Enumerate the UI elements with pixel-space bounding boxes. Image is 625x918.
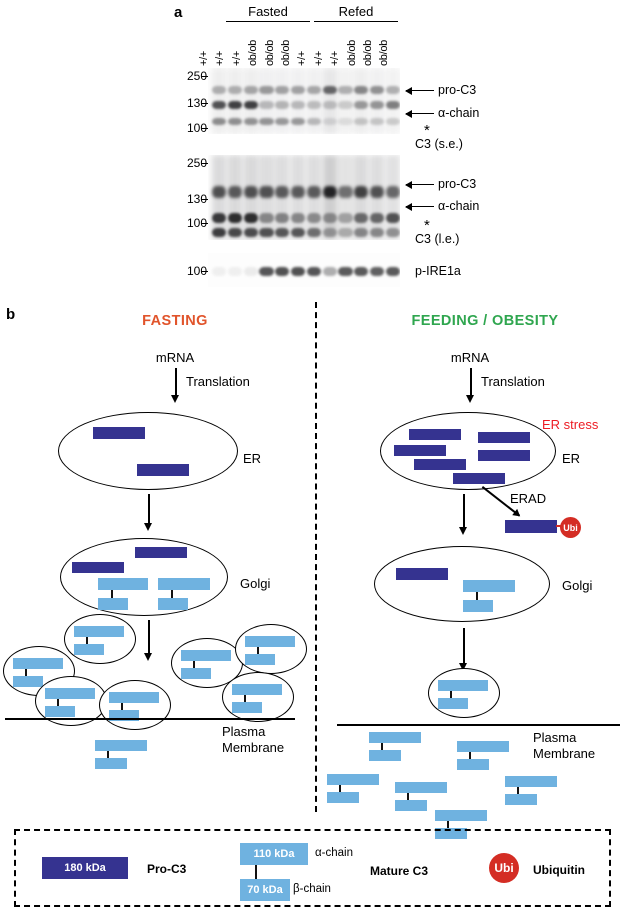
blot-band [307, 101, 321, 109]
feeding-secreted-c3-4-beta [395, 800, 427, 811]
blot-band [244, 86, 258, 94]
blot-band [323, 86, 337, 94]
blot-band [291, 186, 305, 198]
feeding-golgi-to-vesicle-arrow [463, 628, 465, 664]
blot-band [212, 186, 226, 198]
blot-band [212, 267, 226, 276]
blot-band [275, 118, 289, 125]
lane-genotype-2: +/+ [215, 51, 226, 66]
lane-genotype-6: ob/ob [281, 40, 292, 66]
blot-band [323, 118, 337, 125]
fasting-golgi-proc3-1 [135, 547, 187, 558]
lane-genotype-labels: +/++/++/+ob/obob/obob/ob+/++/++/+ob/obob… [199, 24, 399, 66]
ubiquitin-badge: Ubi [560, 517, 581, 538]
fasting-golgi-label: Golgi [240, 576, 270, 591]
feeding-golgi-c3-alpha [463, 580, 515, 592]
feeding-er-proc3-3 [394, 445, 446, 456]
fasting-vesicle-2-c3-link [25, 669, 27, 676]
blot-band [354, 228, 368, 237]
mw-tick-250-blot1 [201, 76, 208, 77]
feeding-er-to-golgi-arrow [463, 494, 465, 528]
legend-proc3-chip: 180 kDa [42, 857, 128, 879]
blot-caption-p-ire1a: p-IRE1a [415, 264, 461, 278]
blot-band [259, 118, 273, 125]
feeding-secreted-c3-5-alpha [505, 776, 557, 787]
feeding-er-proc3-4 [478, 450, 530, 461]
blot-band [354, 213, 368, 223]
blot-band [244, 267, 258, 276]
blot-band [338, 267, 352, 276]
blot-band [307, 213, 321, 223]
blot-band [275, 228, 289, 237]
blot-band [291, 118, 305, 125]
feeding-secreted-c3-2-beta [457, 759, 489, 770]
fasting-secreted-c3-1-alpha [95, 740, 147, 751]
feeding-er-proc3-2 [478, 432, 530, 443]
fasting-golgi-c3-1-link [111, 590, 113, 598]
feeding-secreted-c3 [315, 724, 625, 814]
band-label-proc3-blot2: pro-C3 [438, 177, 476, 191]
blot-band [338, 213, 352, 223]
fasting-vesicle-7-c3-link [244, 695, 246, 702]
feeding-secreted-c3-6-link [447, 821, 449, 828]
blot-caption-c3-se: C3 (s.e.) [415, 137, 463, 151]
legend-beta-chip: 70 kDa [240, 879, 290, 901]
fasting-vesicle-7-c3-beta [232, 702, 262, 713]
blot-band [338, 228, 352, 237]
group-rule-refed [314, 21, 398, 22]
fasting-vesicle-1 [64, 614, 136, 664]
blot-band [291, 228, 305, 237]
fasting-title: FASTING [110, 313, 240, 329]
fasting-secreted-c3-1-beta [95, 758, 127, 769]
blot-band [370, 213, 384, 223]
legend-mature-c3-name: Mature C3 [370, 864, 428, 878]
band-arrow-proc3-blot2 [406, 184, 434, 185]
feeding-vesicle-1-beta [438, 698, 468, 709]
legend-c3-link [255, 865, 257, 879]
fasting-er-organelle [58, 412, 238, 490]
mw-tick-130-blot2 [201, 199, 208, 200]
blot-band [212, 213, 226, 223]
blot-band [386, 86, 400, 94]
lane-genotype-1: +/+ [199, 51, 210, 66]
fasting-secreted-c3-1-link [107, 751, 109, 758]
blot-band [354, 186, 368, 198]
blot-band [307, 228, 321, 237]
feeding-golgi-organelle [374, 546, 550, 622]
erad-label: ERAD [510, 491, 546, 506]
feeding-er-proc3-6 [453, 473, 505, 484]
blot-band [338, 118, 352, 125]
feeding-secreted-c3-1-link [381, 743, 383, 750]
feeding-mrna-label: mRNA [420, 350, 520, 365]
fasting-vesicle-2-c3-alpha [13, 658, 63, 669]
lane-genotype-5: ob/ob [265, 40, 276, 66]
lane-genotype-8: +/+ [314, 51, 325, 66]
lane-genotype-11: ob/ob [363, 40, 374, 66]
blot-band [244, 213, 258, 223]
blot-band [259, 213, 273, 223]
blot-band [212, 228, 226, 237]
blot-band [386, 267, 400, 276]
fasting-vesicle-6 [235, 624, 307, 674]
mw-tick-100-blot2 [201, 223, 208, 224]
blot-band [291, 267, 305, 276]
feeding-er-proc3-5 [414, 459, 466, 470]
fasting-er-label: ER [243, 451, 261, 466]
fasting-golgi-c3-1-beta [98, 598, 128, 610]
feeding-secreted-c3-6-alpha [435, 810, 487, 821]
blot-band [323, 267, 337, 276]
star-marker-blot1: * [424, 127, 430, 135]
blot-band [291, 86, 305, 94]
blot-band [307, 267, 321, 276]
blot-band [212, 101, 226, 109]
group-rule-fasted [226, 21, 310, 22]
feeding-golgi-proc3-1 [396, 568, 448, 580]
blot-band [259, 101, 273, 109]
fasting-vesicle-1-c3-alpha [74, 626, 124, 637]
blot-band [244, 101, 258, 109]
feeding-er-label: ER [562, 451, 580, 466]
blot-band [354, 86, 368, 94]
fasting-vesicle-4-c3-link [121, 703, 123, 710]
fasting-vesicle-3-c3-beta [45, 706, 75, 717]
blot-band [275, 186, 289, 198]
legend-proc3-name: Pro-C3 [147, 862, 186, 876]
band-label-alpha-blot2: α-chain [438, 199, 479, 213]
blot-band [291, 213, 305, 223]
mw-tick-130-blot1 [201, 103, 208, 104]
feeding-secreted-c3-2-link [469, 752, 471, 759]
blot-band [307, 86, 321, 94]
feeding-er-stress-label: ER stress [542, 417, 598, 432]
fasting-mrna-label: mRNA [125, 350, 225, 365]
band-arrow-alpha-blot2 [406, 206, 434, 207]
blot-band [259, 186, 273, 198]
legend-ubiquitin-name: Ubiquitin [533, 863, 585, 877]
blot-band [370, 101, 384, 109]
blot-band [386, 228, 400, 237]
feeding-secreted-c3-3-beta [327, 792, 359, 803]
fasting-vesicle-5-c3-alpha [181, 650, 231, 661]
band-label-proc3-blot1: pro-C3 [438, 83, 476, 97]
blot-band [323, 101, 337, 109]
fasting-translation-arrow [175, 368, 177, 396]
lane-genotype-12: ob/ob [379, 40, 390, 66]
blot-band [370, 228, 384, 237]
blot-band [275, 213, 289, 223]
panel-a-letter: a [174, 4, 182, 21]
blot-band [228, 228, 242, 237]
fasting-vesicle-7 [222, 672, 294, 722]
blot-band [212, 86, 226, 94]
blot-band [228, 267, 242, 276]
fasting-golgi-c3-2-link [171, 590, 173, 598]
feeding-secreted-c3-1-alpha [369, 732, 421, 743]
feeding-translation-arrow [470, 368, 472, 396]
feeding-secreted-c3-5-beta [505, 794, 537, 805]
feeding-secreted-c3-3-link [339, 785, 341, 792]
fasting-golgi-proc3-2 [72, 562, 124, 573]
lane-genotype-9: +/+ [330, 51, 341, 66]
blot-band [244, 118, 258, 125]
blot-band [338, 186, 352, 198]
fasting-vesicle-4-c3-alpha [109, 692, 159, 703]
feeding-secreted-c3-5-link [517, 787, 519, 794]
band-arrow-alpha-blot1 [406, 113, 434, 114]
feeding-vesicle-1-alpha [438, 680, 488, 691]
blot-band [370, 186, 384, 198]
feeding-secretory-vesicle-1 [428, 668, 500, 718]
fasting-vesicle-1-c3-beta [74, 644, 104, 655]
fasting-golgi-c3-2-alpha [158, 578, 210, 590]
blot-band [228, 213, 242, 223]
feeding-secreted-c3-1-beta [369, 750, 401, 761]
blot-p-ire1a [208, 253, 400, 287]
blot-band [212, 118, 226, 125]
feeding-secreted-c3-4-link [407, 793, 409, 800]
blot-band [228, 186, 242, 198]
blot-band [386, 101, 400, 109]
blot-band [323, 186, 337, 198]
blot-band [228, 118, 242, 125]
fasting-secretory-vesicles [0, 614, 315, 714]
mw-tick-100-blot3 [201, 271, 208, 272]
blot-band [228, 101, 242, 109]
fasting-vesicle-3-c3-link [57, 699, 59, 706]
feeding-golgi-c3-link [476, 592, 478, 600]
lane-genotype-3: +/+ [232, 51, 243, 66]
fasting-vesicle-3-c3-alpha [45, 688, 95, 699]
fasting-er-proc3-2 [137, 464, 189, 476]
blot-band [291, 101, 305, 109]
feeding-vesicle-1-link [450, 691, 452, 698]
blot-band [354, 267, 368, 276]
erad-ubiquitinated-proc3 [505, 520, 557, 533]
fasting-vesicle-6-c3-alpha [245, 636, 295, 647]
blot-band [338, 86, 352, 94]
panel-b-letter: b [6, 306, 15, 323]
band-arrow-proc3-blot1 [406, 90, 434, 91]
fasting-vesicle-2-c3-beta [13, 676, 43, 687]
fasting-vesicle-5-c3-beta [181, 668, 211, 679]
blot-caption-c3-le: C3 (l.e.) [415, 232, 459, 246]
legend-ubiquitin-chip: Ubi [489, 853, 519, 883]
feeding-secreted-c3-2-alpha [457, 741, 509, 752]
legend-alpha-chip: 110 kDa [240, 843, 308, 865]
feeding-golgi-c3-beta [463, 600, 493, 612]
blot-band [275, 86, 289, 94]
blot-band [259, 86, 273, 94]
blot-band [370, 267, 384, 276]
legend-alpha-name: α-chain [315, 847, 353, 859]
blot-band [386, 213, 400, 223]
feeding-secreted-c3-4-alpha [395, 782, 447, 793]
lane-genotype-4: ob/ob [248, 40, 259, 66]
fasting-er-proc3-1 [93, 427, 145, 439]
blot-c3-short-exposure [208, 68, 400, 134]
lane-genotype-7: +/+ [297, 51, 308, 66]
fasting-er-to-golgi-arrow [148, 494, 150, 524]
blot-band [307, 186, 321, 198]
feeding-golgi-label: Golgi [562, 578, 592, 593]
fasting-golgi-c3-1-alpha [98, 578, 148, 590]
feeding-secreted-c3-3-alpha [327, 774, 379, 785]
blot-band [259, 228, 273, 237]
star-marker-blot2: * [424, 222, 430, 230]
fasting-vesicle-6-c3-beta [245, 654, 275, 665]
blot-band [259, 267, 273, 276]
mw-tick-100-blot1 [201, 128, 208, 129]
blot-band [354, 118, 368, 125]
blot-band [244, 228, 258, 237]
blot-band [354, 101, 368, 109]
feeding-title: FEEDING / OBESITY [385, 313, 585, 329]
blot-band [275, 101, 289, 109]
fasting-vesicle-7-c3-alpha [232, 684, 282, 695]
blot-band [338, 101, 352, 109]
blot-band [386, 186, 400, 198]
fasting-vesicle-5-c3-link [193, 661, 195, 668]
blot-band [323, 213, 337, 223]
band-label-alpha-blot1: α-chain [438, 106, 479, 120]
group-label-fasted: Fasted [228, 4, 308, 19]
blot-c3-long-exposure [208, 155, 400, 240]
fasting-golgi-c3-2-beta [158, 598, 188, 610]
legend-beta-name: β-chain [293, 883, 331, 895]
blot-band [228, 86, 242, 94]
feeding-er-proc3-1 [409, 429, 461, 440]
fasting-translation-label: Translation [186, 374, 250, 389]
blot-band [370, 118, 384, 125]
blot-band [370, 86, 384, 94]
blot-band [323, 228, 337, 237]
feeding-translation-label: Translation [481, 374, 545, 389]
mw-tick-250-blot2 [201, 163, 208, 164]
blot-band [244, 186, 258, 198]
group-label-refed: Refed [316, 4, 396, 19]
fasting-secreted-c3 [0, 718, 315, 808]
blot-band [307, 118, 321, 125]
fasting-vesicle-1-c3-link [86, 637, 88, 644]
blot-band [386, 118, 400, 125]
lane-genotype-10: ob/ob [347, 40, 358, 66]
fasting-vesicle-6-c3-link [257, 647, 259, 654]
blot-band [275, 267, 289, 276]
